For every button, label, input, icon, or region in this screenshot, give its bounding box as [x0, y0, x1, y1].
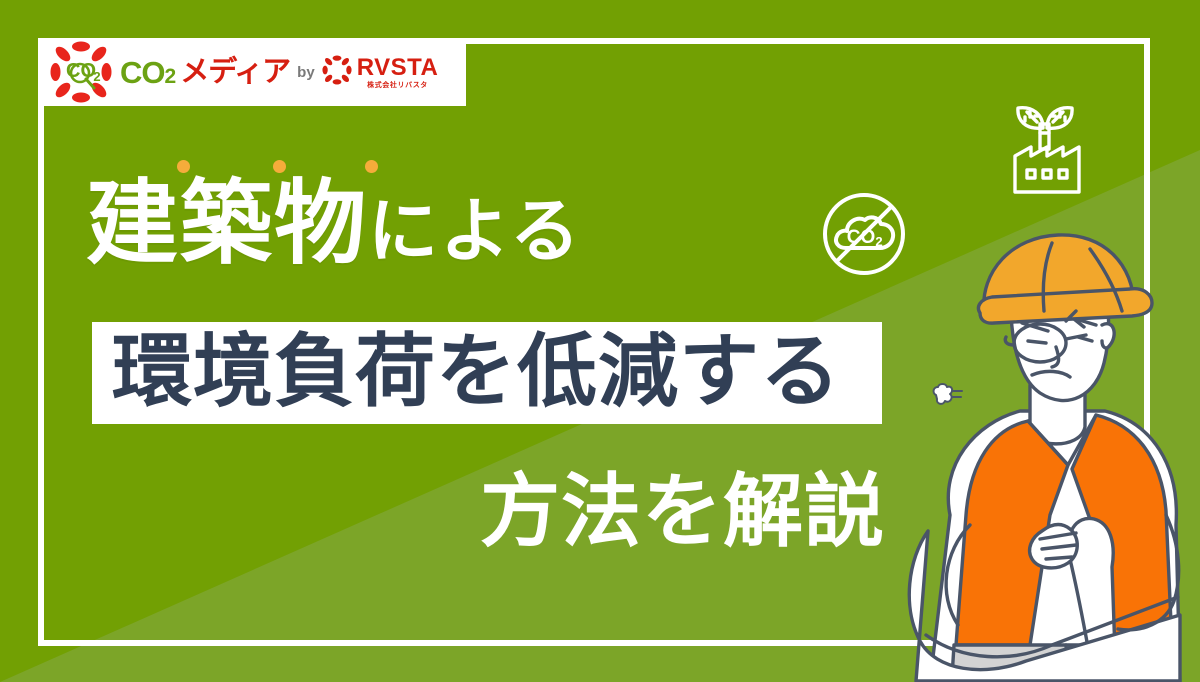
wordmark-co2: CO2 — [120, 57, 175, 88]
rvsta-dotted-circle-icon — [322, 55, 352, 90]
headline-line-3: 方法を解説 — [480, 472, 885, 552]
orange-dot — [365, 160, 378, 173]
headline-highlight-band: 環境負荷を低減する — [92, 322, 882, 424]
svg-text:2: 2 — [93, 69, 100, 84]
headline-line-1-rest: による — [368, 192, 582, 270]
svg-text:CO: CO — [847, 227, 876, 248]
orange-dot — [273, 160, 286, 173]
thinking-construction-worker — [880, 215, 1200, 682]
headline-emphasis: 建築物 — [86, 173, 368, 275]
orange-dot — [177, 160, 190, 173]
wordmark-media: メディア — [180, 58, 290, 87]
partner-text: RVSTA 株式会社リバスタ — [357, 56, 439, 89]
partner-logo: RVSTA 株式会社リバスタ — [322, 55, 439, 90]
decorative-dots — [128, 150, 428, 166]
headline-line-1: 建築物による — [86, 178, 582, 270]
brand-wordmark: CO2 メディア by — [120, 55, 438, 90]
wordmark-by: by — [297, 65, 315, 80]
brand-logo-bar[interactable]: CO 2 CO2 メディア by — [38, 38, 466, 106]
factory-with-leaves-icon — [995, 100, 1095, 200]
partner-name: RVSTA — [357, 56, 439, 80]
hero-banner: CO 2 CO2 メディア by — [0, 0, 1200, 682]
co2-search-mark-icon: CO 2 — [50, 41, 112, 103]
partner-subtitle: 株式会社リバスタ — [367, 82, 428, 89]
headline-line-2: 環境負荷を低減する — [112, 332, 866, 412]
